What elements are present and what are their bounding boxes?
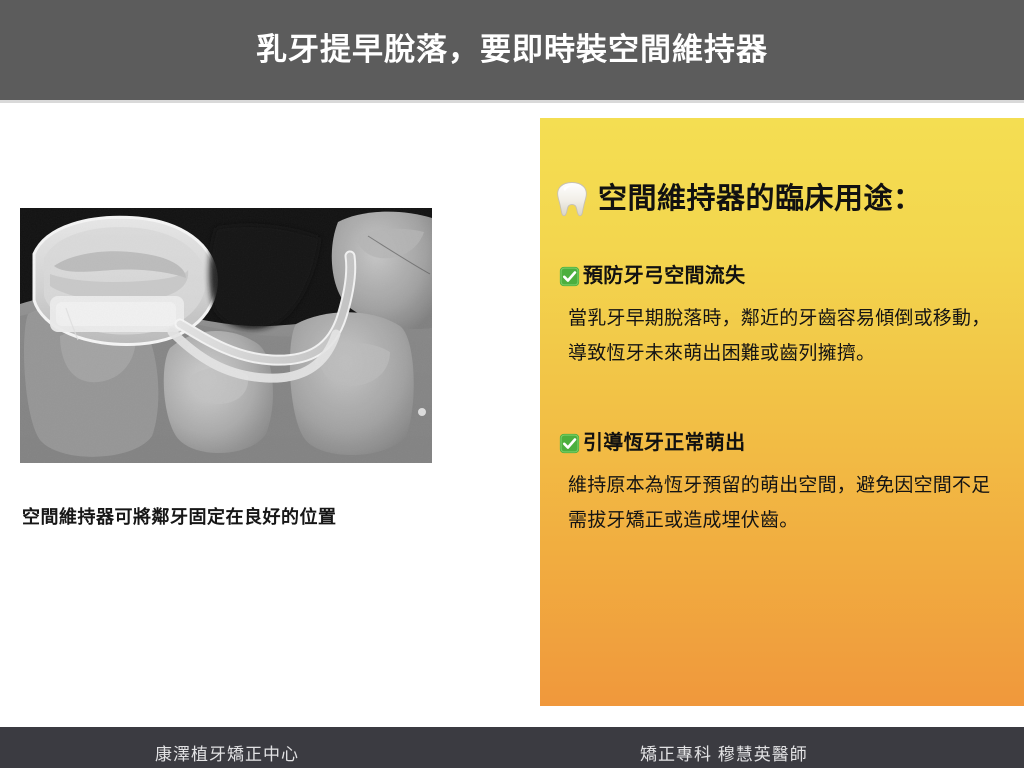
clinical-uses-panel: 空間維持器的臨床用途： 預防牙弓空間流失 當乳牙早期脫落時，鄰近的牙齒容易傾倒或… bbox=[540, 118, 1024, 706]
check-mark-button-icon bbox=[559, 266, 580, 287]
bullet-title: 預防牙弓空間流失 bbox=[583, 264, 745, 289]
bullet-item: 預防牙弓空間流失 當乳牙早期脫落時，鄰近的牙齒容易傾倒或移動，導致恆牙未來萌出困… bbox=[554, 264, 1006, 371]
xray-caption: 空間維持器可將鄰牙固定在良好的位置 bbox=[22, 503, 442, 529]
slide-root: 乳牙提早脫落，要即時裝空間維持器 bbox=[0, 0, 1024, 768]
panel-heading-label: 空間維持器的臨床用途： bbox=[598, 185, 923, 214]
bullet-title: 引導恆牙正常萌出 bbox=[583, 431, 745, 456]
bullet-item: 引導恆牙正常萌出 維持原本為恆牙預留的萌出空間，避免因空間不足需拔牙矯正或造成埋… bbox=[554, 431, 1006, 538]
footer-doctor-name: 矯正專科 穆慧英醫師 bbox=[640, 740, 808, 765]
bullet-heading: 預防牙弓空間流失 bbox=[559, 264, 1006, 289]
dental-xray-graphic bbox=[20, 208, 432, 463]
footer-bar bbox=[0, 727, 1024, 768]
tooth-icon bbox=[556, 181, 588, 217]
footer-clinic-name: 康澤植牙矯正中心 bbox=[155, 740, 299, 765]
bullet-body: 當乳牙早期脫落時，鄰近的牙齒容易傾倒或移動，導致恆牙未來萌出困難或齒列擁擠。 bbox=[568, 301, 998, 371]
page-title: 乳牙提早脫落，要即時裝空間維持器 bbox=[256, 33, 768, 67]
dental-xray-image bbox=[20, 208, 432, 463]
panel-heading: 空間維持器的臨床用途： bbox=[556, 176, 1006, 222]
header-divider bbox=[0, 100, 1024, 103]
header-bar: 乳牙提早脫落，要即時裝空間維持器 bbox=[0, 0, 1024, 100]
bullet-heading: 引導恆牙正常萌出 bbox=[559, 431, 1006, 456]
check-mark-button-icon bbox=[559, 433, 580, 454]
bullet-body: 維持原本為恆牙預留的萌出空間，避免因空間不足需拔牙矯正或造成埋伏齒。 bbox=[568, 468, 998, 538]
